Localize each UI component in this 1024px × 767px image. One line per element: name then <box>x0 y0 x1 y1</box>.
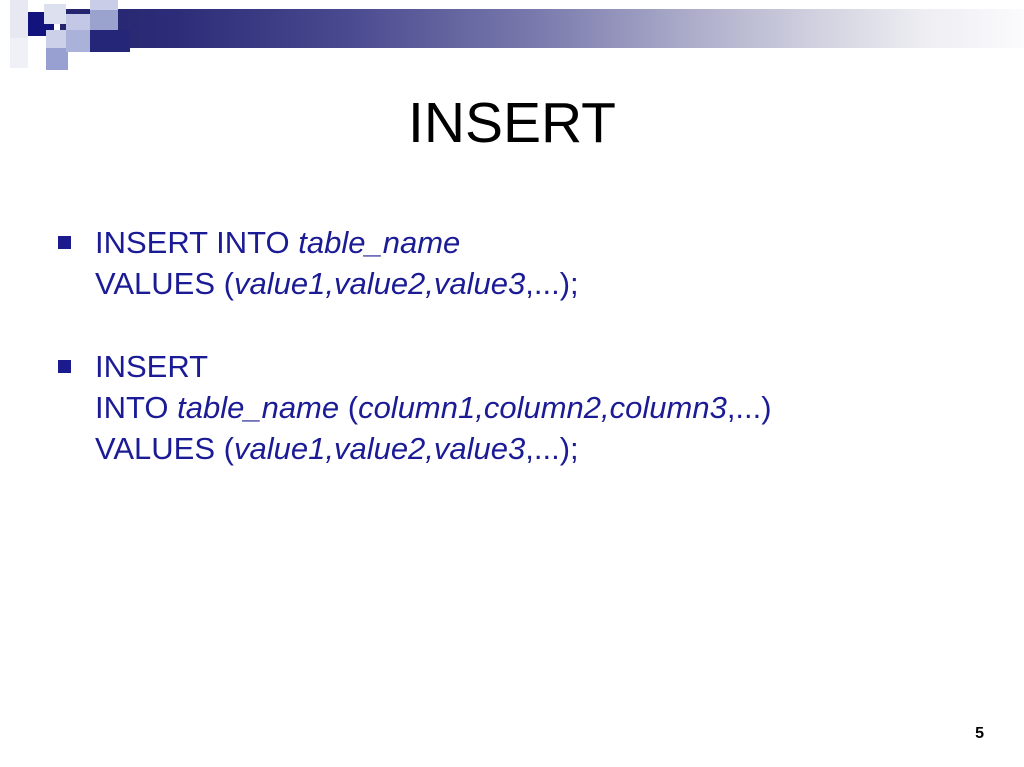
list-item[interactable]: INSERT INTO table_name VALUES (value1,va… <box>58 222 978 304</box>
italic-run: column1,column2,column3 <box>358 390 727 425</box>
italic-run: table_name <box>177 390 339 425</box>
bullet-text-1: INSERT INTO table_name (column1,column2,… <box>95 346 978 469</box>
square-bullet-icon <box>58 236 71 249</box>
italic-run: value1,value2,value3 <box>234 431 525 466</box>
bullet-list: INSERT INTO table_name VALUES (value1,va… <box>58 222 978 511</box>
roman-run: INSERT INTO <box>95 225 298 260</box>
italic-run: table_name <box>298 225 460 260</box>
page-title: INSERT <box>0 92 1024 155</box>
block-pale-upper-mid <box>44 4 66 24</box>
roman-run: ( <box>339 390 358 425</box>
bullet-text-0: INSERT INTO table_name VALUES (value1,va… <box>95 222 978 304</box>
block-pale-lower-left <box>10 38 28 68</box>
block-navy-right <box>90 30 130 52</box>
italic-run: value1,value2,value3 <box>234 266 525 301</box>
roman-run: VALUES ( <box>95 266 234 301</box>
slide-header-banner <box>0 0 1024 72</box>
block-periwinkle-low <box>46 48 68 70</box>
gradient-bar <box>60 9 1024 48</box>
roman-run: ,...); <box>525 266 578 301</box>
list-item[interactable]: INSERT INTO table_name (column1,column2,… <box>58 346 978 469</box>
slide: INSERT INSERT INTO table_name VALUES (va… <box>0 0 1024 767</box>
square-bullet-icon <box>58 360 71 373</box>
page-number: 5 <box>975 725 984 743</box>
roman-run: ,...); <box>525 431 578 466</box>
